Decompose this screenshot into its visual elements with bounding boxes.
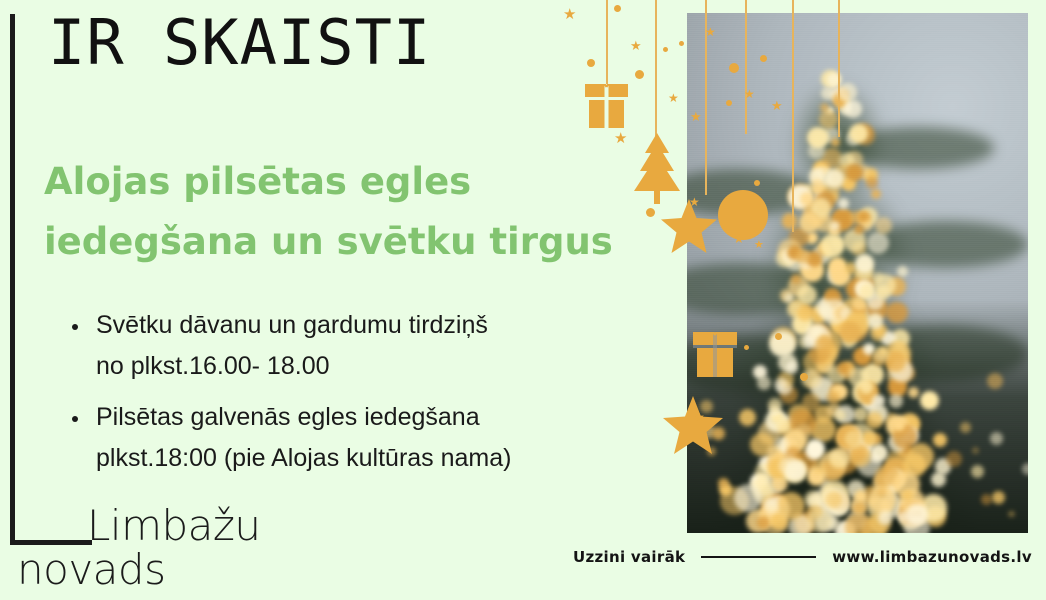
footer-divider [701, 556, 816, 558]
confetti-dot [744, 345, 749, 350]
star-icon: ★ [563, 7, 576, 22]
footer-label: Uzzini vairāk [573, 548, 685, 566]
logo-line-2: novads [17, 548, 261, 592]
confetti-dot [775, 333, 782, 340]
ornament-string [655, 0, 657, 142]
page-subtitle: Alojas pilsētas egles iedegšana un svētk… [44, 152, 644, 272]
christmas-tree-photo [687, 13, 1028, 533]
footer-url[interactable]: www.limbazunovads.lv [832, 548, 1032, 566]
list-item: Svētku dāvanu un gardumu tirdziņš no plk… [66, 305, 626, 387]
star-icon: ★ [614, 131, 627, 146]
subtitle-line-2: iedegšana un svētku tirgus [44, 212, 644, 272]
star-icon: ★ [744, 88, 755, 100]
confetti-dot [635, 70, 644, 79]
confetti-dot [800, 373, 808, 381]
bullet-line: Svētku dāvanu un gardumu tirdziņš [96, 305, 626, 346]
confetti-dot [614, 5, 621, 12]
confetti-dot [587, 59, 595, 67]
gift-box-icon [693, 332, 737, 377]
confetti-dot [663, 47, 668, 52]
confetti-dot [679, 41, 684, 46]
confetti-dot [646, 208, 655, 217]
confetti-dot [726, 100, 732, 106]
page-title: IR SKAISTI [48, 6, 431, 79]
bullet-line: Pilsētas galvenās egles iedegšana [96, 397, 626, 438]
photo-grain-overlay [687, 13, 1028, 533]
star-icon: ★ [689, 196, 700, 208]
gift-box-icon [585, 84, 628, 128]
bullet-line: plkst.18:00 (pie Alojas kultūras nama) [96, 438, 626, 479]
confetti-dot [754, 180, 760, 186]
star-icon: ★ [630, 40, 642, 53]
confetti-dot [729, 63, 739, 73]
star-icon: ★ [690, 111, 702, 124]
star-icon: ★ [733, 233, 745, 246]
confetti-dot [760, 55, 767, 62]
event-details-list: Svētku dāvanu un gardumu tirdziņš no plk… [66, 305, 626, 489]
star-icon: ★ [705, 26, 716, 38]
bullet-line: no plkst.16.00- 18.00 [96, 346, 626, 387]
limbazu-novads-logo: Limbažu novads [17, 504, 261, 592]
ornament-string [792, 0, 794, 232]
logo-vertical-stem [10, 14, 15, 545]
footer: Uzzini vairāk www.limbazunovads.lv [573, 548, 1032, 566]
star-icon: ★ [754, 239, 764, 250]
logo-line-1: Limbažu [17, 504, 261, 548]
ornament-string [745, 0, 747, 134]
star-icon: ★ [694, 411, 705, 423]
poster-canvas: ★ ★ ★ ★ ★ ★ ★ ★ ★ ★ ★ ★ IR SKAISTI Aloja… [0, 0, 1046, 600]
list-item: Pilsētas galvenās egles iedegšana plkst.… [66, 397, 626, 479]
subtitle-line-1: Alojas pilsētas egles [44, 152, 644, 212]
star-icon [662, 396, 724, 456]
ornament-string [606, 0, 608, 92]
star-icon: ★ [771, 100, 783, 113]
ornament-string [838, 0, 840, 137]
star-icon: ★ [668, 92, 679, 104]
